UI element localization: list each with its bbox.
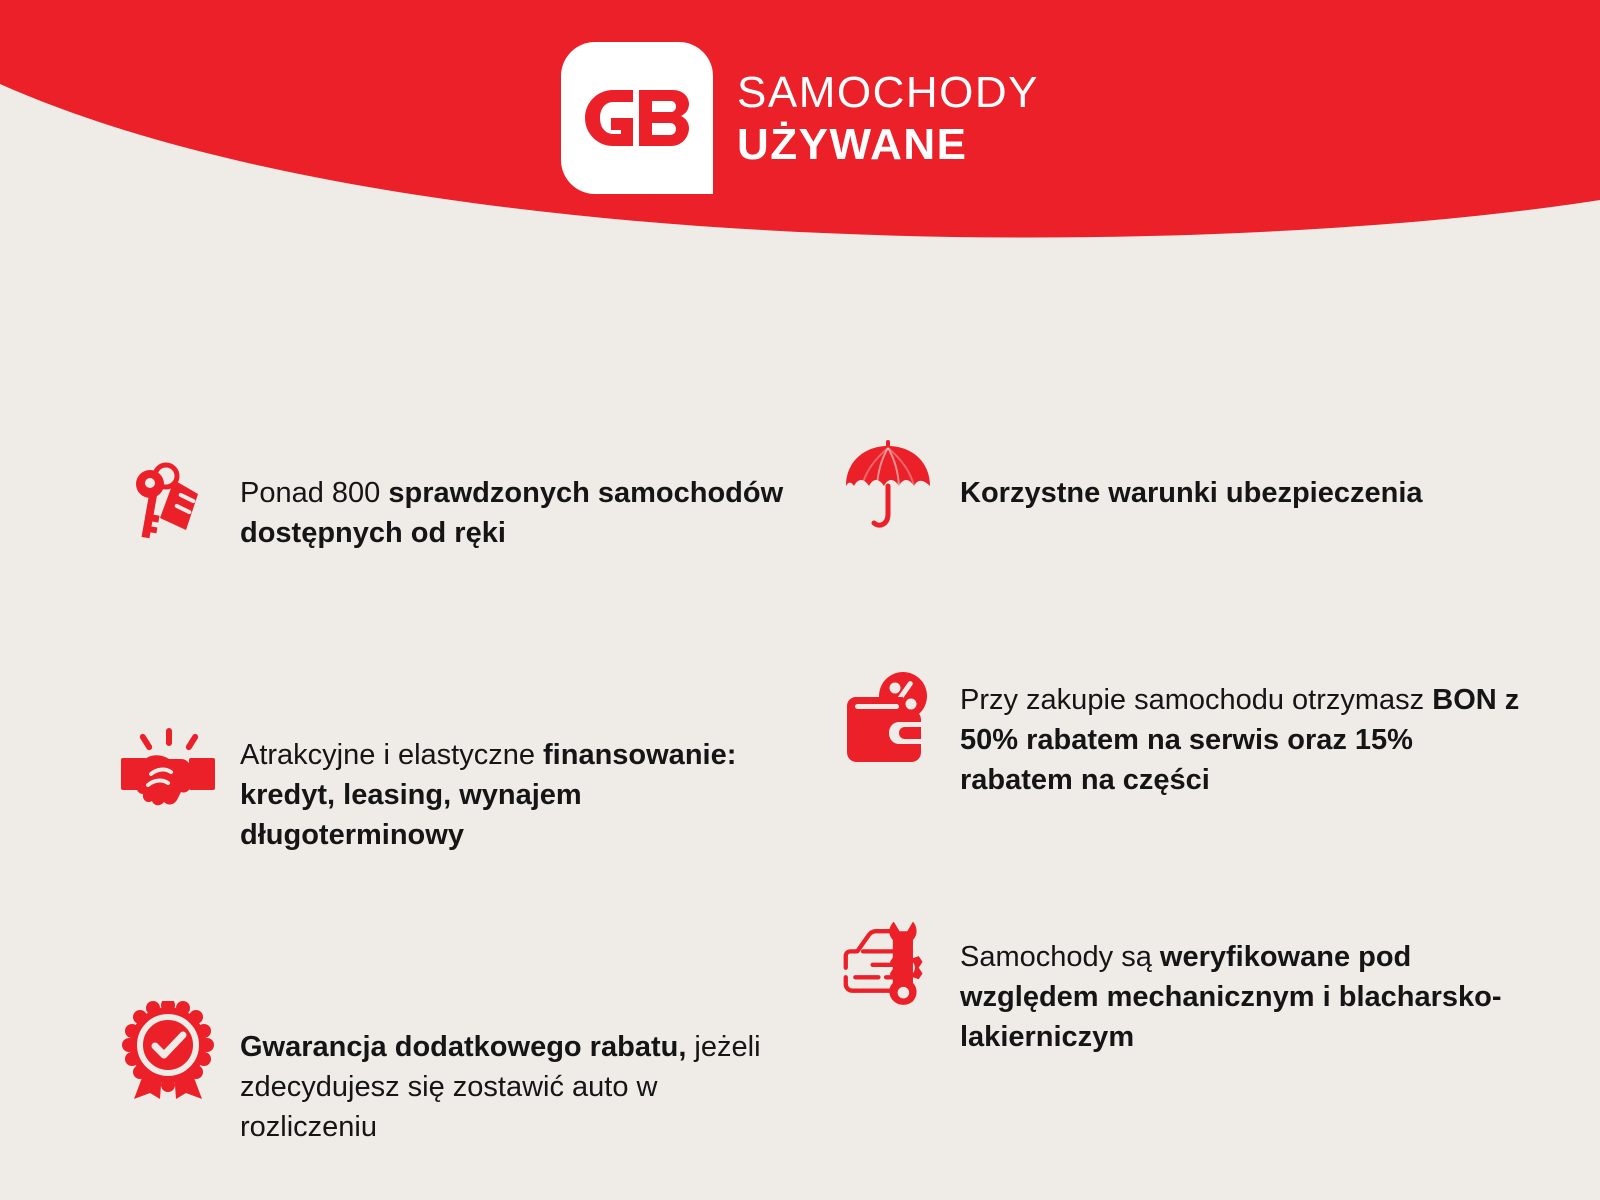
- benefit-text: Ponad 800 sprawdzonych samochodów dostęp…: [240, 469, 800, 553]
- header-banner: SAMOCHODY UŻYWANE: [0, 0, 1600, 260]
- brand-wordmark: SAMOCHODY UŻYWANE: [737, 69, 1039, 167]
- car-key-tag-icon: [120, 448, 216, 544]
- benefit-item-insurance: Korzystne warunki ubezpieczenia: [840, 440, 1600, 542]
- benefit-text: Gwarancja dodatkowego rabatu, jeżeli zde…: [240, 1023, 800, 1147]
- benefit-text: Korzystne warunki ubezpieczenia: [960, 469, 1423, 513]
- gb-monogram-icon: [585, 90, 689, 146]
- benefits-column-left: Ponad 800 sprawdzonych samochodów dostęp…: [120, 440, 840, 1176]
- benefit-text: Atrakcyjne i elastyczne finansowanie: kr…: [240, 731, 800, 855]
- brand-line-1: SAMOCHODY: [737, 71, 1039, 115]
- benefit-item-financing: Atrakcyjne i elastyczne finansowanie: kr…: [120, 702, 840, 884]
- wallet-percent-icon: [840, 669, 936, 765]
- gb-logo-icon[interactable]: [561, 42, 713, 194]
- benefits-column-right: Korzystne warunki ubezpieczenia: [840, 440, 1600, 1176]
- header-logo-lockup: SAMOCHODY UŻYWANE: [0, 38, 1600, 198]
- car-wrench-gear-icon: [840, 912, 936, 1008]
- benefit-text: Samochody są weryfikowane pod względem m…: [960, 933, 1520, 1057]
- award-badge-check-icon: [120, 1002, 216, 1098]
- benefit-text: Przy zakupie samochodu otrzymasz BON z 5…: [960, 676, 1520, 800]
- benefit-item-verified-cars: Samochody są weryfikowane pod względem m…: [840, 904, 1600, 1086]
- benefit-item-trade-in-guarantee: Gwarancja dodatkowego rabatu, jeżeli zde…: [120, 994, 840, 1176]
- brand-line-2: UŻYWANE: [737, 123, 1039, 167]
- benefit-item-service-voucher: Przy zakupie samochodu otrzymasz BON z 5…: [840, 647, 1600, 829]
- handshake-icon: [120, 724, 216, 820]
- benefit-item-cars-available: Ponad 800 sprawdzonych samochodów dostęp…: [120, 440, 840, 582]
- benefits-grid: Ponad 800 sprawdzonych samochodów dostęp…: [0, 440, 1600, 1176]
- umbrella-icon: [840, 436, 936, 532]
